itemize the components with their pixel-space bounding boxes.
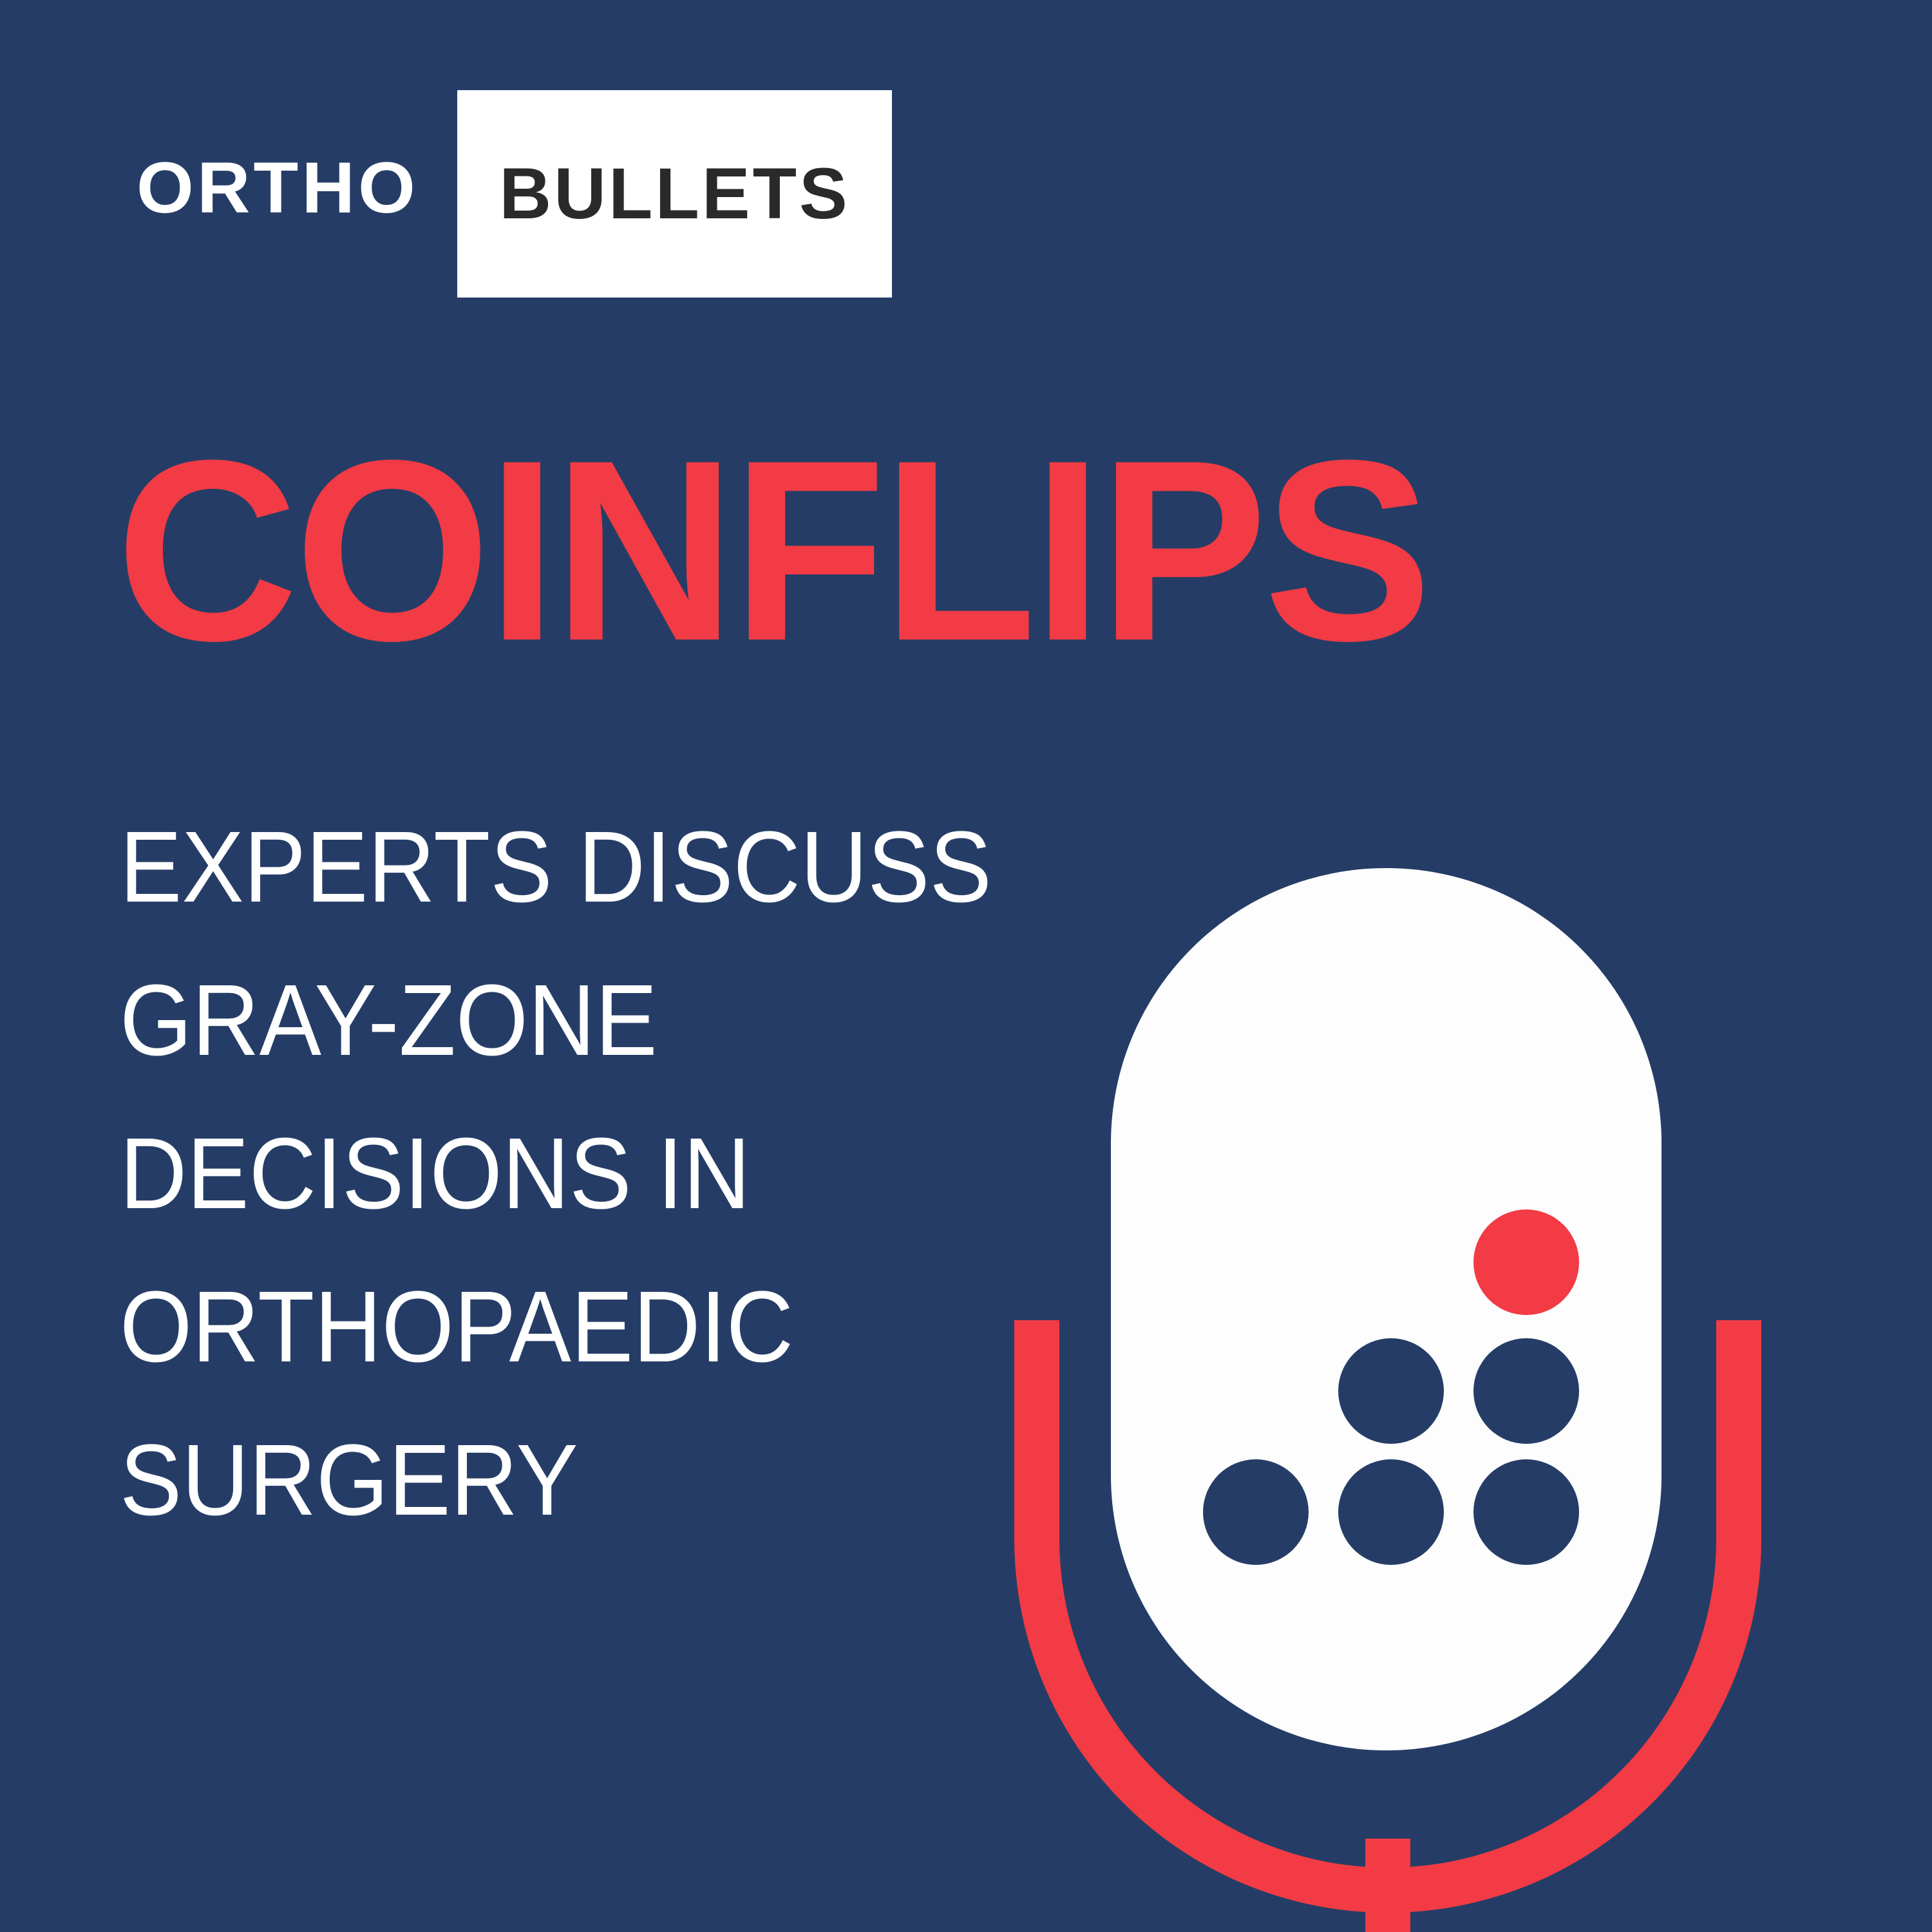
grille-dot — [1203, 1459, 1309, 1565]
tagline-line: DECISIONS IN — [120, 1097, 1044, 1251]
orthobullets-logo: ORTHO BULLETS — [0, 0, 966, 335]
tagline-line: ORTHOPAEDIC — [120, 1251, 1044, 1404]
grille-dot — [1338, 1338, 1444, 1444]
logo-bullets-panel: BULLETS — [457, 90, 892, 298]
logo-word-bullets: BULLETS — [457, 90, 892, 298]
podcast-cover-art: ORTHO BULLETS COINFLIPS EXPERTS DISCUSS … — [0, 0, 1932, 1932]
record-indicator-dot — [1473, 1209, 1579, 1315]
logo-word-ortho: ORTHO — [137, 152, 419, 224]
mic-stem — [1365, 1839, 1410, 1932]
mic-capsule — [1111, 868, 1662, 1750]
grille-dot — [1338, 1459, 1444, 1565]
tagline-line: EXPERTS DISCUSS — [120, 791, 1044, 944]
tagline-line: SURGERY — [120, 1404, 1044, 1557]
show-title: COINFLIPS — [116, 422, 1631, 679]
podcast-microphone-icon — [966, 837, 1932, 1932]
grille-dot — [1473, 1459, 1579, 1565]
grille-dot — [1473, 1338, 1579, 1444]
tagline-line: GRAY-ZONE — [120, 944, 1044, 1097]
